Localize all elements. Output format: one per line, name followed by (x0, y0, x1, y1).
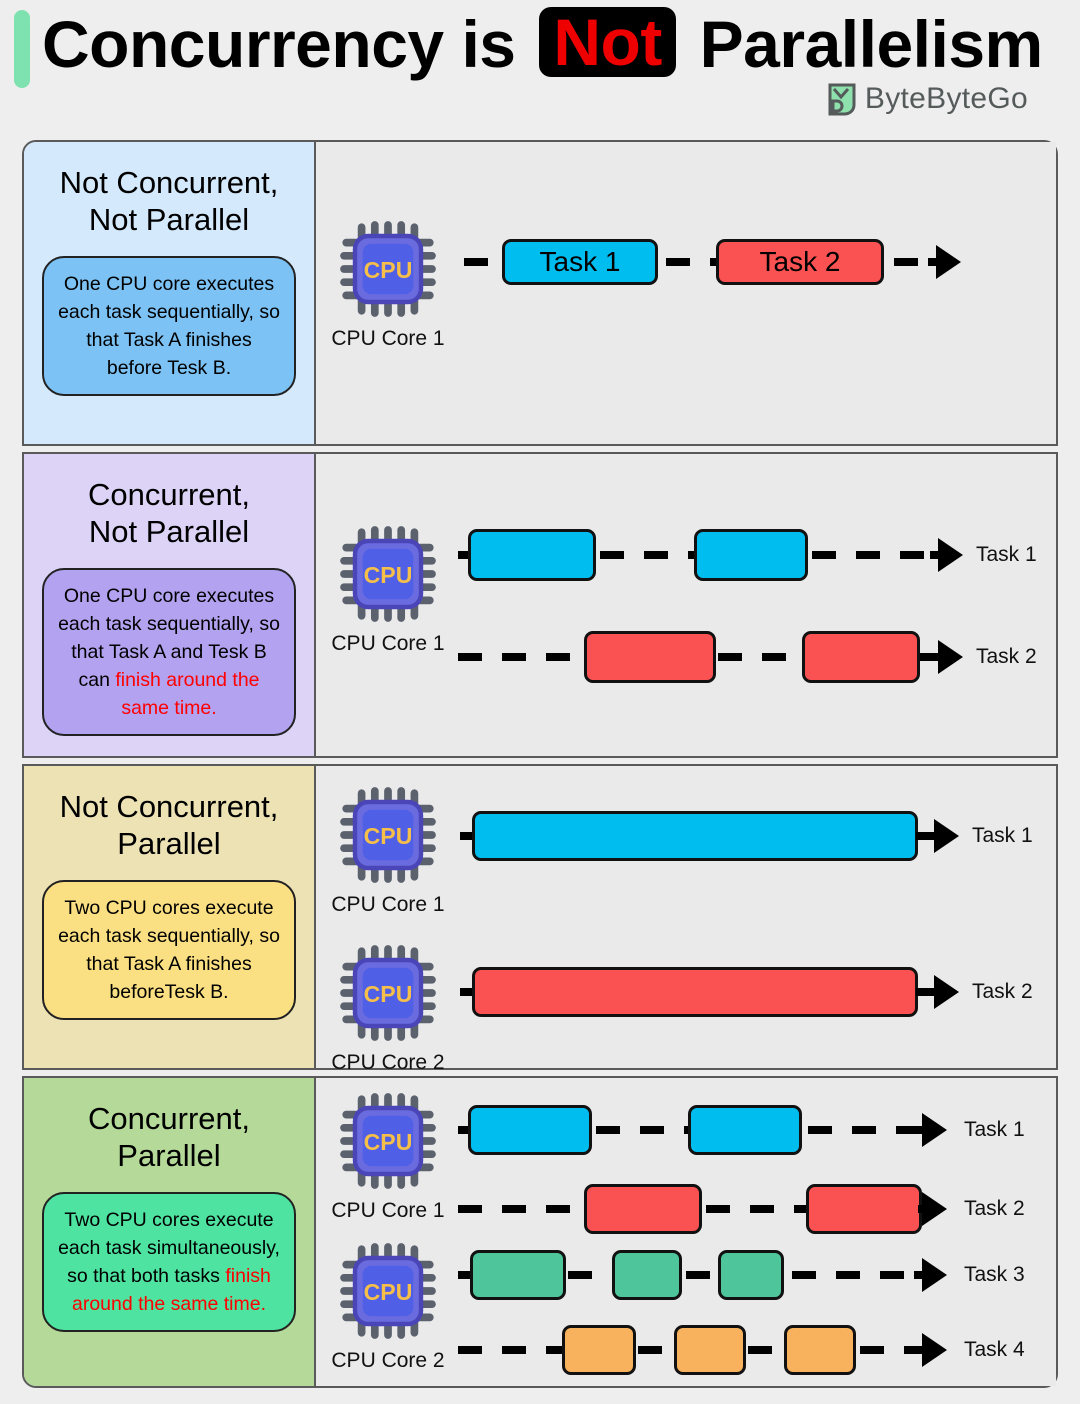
cpu-chip-text: CPU (364, 257, 413, 283)
task-segment (718, 1250, 784, 1300)
cpu-core-label-1: CPU Core 1 (328, 632, 448, 656)
task-segment (674, 1325, 746, 1375)
panel-1: Not Concurrent, Not Parallel One CPU cor… (24, 142, 316, 444)
diagram-3: CPU CPU Core 1 CPU CPU Core 2 (316, 766, 1056, 1068)
cpu-chip-icon: CPU (333, 1236, 443, 1346)
task-label: Task 2 (976, 645, 1037, 669)
title-part-1: Concurrency is (42, 7, 516, 81)
panel-note-text-3: Two CPU cores execute each task sequenti… (58, 897, 280, 1003)
panel-title-4: Concurrent, Parallel (88, 1100, 250, 1174)
panel-note-1: One CPU core executes each task sequenti… (42, 256, 296, 396)
accent-bar (14, 10, 30, 88)
task-segment (612, 1250, 682, 1300)
title-not-badge: Not (539, 7, 675, 77)
timeline-arrow (938, 538, 963, 572)
panel-note-3: Two CPU cores execute each task sequenti… (42, 880, 296, 1020)
timeline-arrow (934, 819, 959, 853)
task-segment (470, 1250, 566, 1300)
task-segment (472, 811, 918, 861)
cpu-core-2-unit: CPU CPU Core 2 (328, 938, 448, 1075)
diagram-4: CPU CPU Core 1 CPU CPU Core 2 (316, 1078, 1056, 1386)
cpu-core-label-2: CPU Core 2 (328, 1051, 448, 1075)
task-segment (694, 529, 808, 581)
task-label: Task 1 (964, 1118, 1025, 1142)
cpu-chip-text: CPU (364, 1279, 413, 1305)
section-concurrent-parallel: Concurrent, Parallel Two CPU cores execu… (22, 1076, 1058, 1388)
task-label: Task 2 (964, 1197, 1025, 1221)
timeline-arrow (922, 1192, 947, 1226)
task-segment (562, 1325, 636, 1375)
panel-title-3: Not Concurrent, Parallel (60, 788, 279, 862)
task-segment (802, 631, 920, 683)
panel-4: Concurrent, Parallel Two CPU cores execu… (24, 1078, 316, 1386)
panel-note-highlight-2: finish around the same time. (115, 669, 259, 719)
panel-3: Not Concurrent, Parallel Two CPU cores e… (24, 766, 316, 1068)
task-segment (584, 1184, 702, 1234)
panel-2: Concurrent, Not Parallel One CPU core ex… (24, 454, 316, 756)
cpu-core-label-2: CPU Core 2 (328, 1349, 448, 1373)
timeline-arrow (922, 1333, 947, 1367)
task-label: Task 2 (972, 980, 1033, 1004)
task-segment (472, 967, 918, 1017)
timeline-arrow (938, 640, 963, 674)
cpu-core-1-unit: CPU CPU Core 1 (328, 1086, 448, 1223)
task-segment (806, 1184, 922, 1234)
diagram-1: CPU CPU Core 1 Task 1 Task 2 (316, 142, 1056, 444)
panel-note-4: Two CPU cores execute each task simultan… (42, 1192, 296, 1332)
cpu-core-1-unit: CPU CPU Core 1 (328, 519, 448, 656)
task-segment (584, 631, 716, 683)
page-title: Concurrency is Not Parallelism (42, 2, 1043, 86)
cpu-core-label-1: CPU Core 1 (328, 1199, 448, 1223)
section-not-concurrent-not-parallel: Not Concurrent, Not Parallel One CPU cor… (22, 140, 1058, 446)
bytebytego-mark-icon (827, 82, 857, 116)
cpu-chip-text: CPU (364, 562, 413, 588)
cpu-chip-icon: CPU (333, 780, 443, 890)
panel-note-2: One CPU core executes each task sequenti… (42, 568, 296, 736)
brand-name: ByteByteGo (865, 82, 1028, 116)
task-block-2: Task 2 (716, 239, 884, 285)
cpu-chip-icon: CPU (333, 519, 443, 629)
task-segment (784, 1325, 856, 1375)
panel-title-2: Concurrent, Not Parallel (88, 476, 250, 550)
brand-logo: ByteByteGo (827, 82, 1028, 116)
task-label: Task 4 (964, 1338, 1025, 1362)
timeline-arrow (934, 975, 959, 1009)
task-label: Task 1 (972, 824, 1033, 848)
cpu-chip-text: CPU (364, 981, 413, 1007)
cpu-core-label-1: CPU Core 1 (328, 893, 448, 917)
panel-note-text-1: One CPU core executes each task sequenti… (58, 273, 280, 379)
section-not-concurrent-parallel: Not Concurrent, Parallel Two CPU cores e… (22, 764, 1058, 1070)
diagram-2: CPU CPU Core 1 Task 1 Task 2 (316, 454, 1056, 756)
task-block-1: Task 1 (502, 239, 658, 285)
panel-title-1: Not Concurrent, Not Parallel (60, 164, 279, 238)
task-segment (468, 1105, 592, 1155)
cpu-core-label-1: CPU Core 1 (328, 327, 448, 351)
cpu-core-2-unit: CPU CPU Core 2 (328, 1236, 448, 1373)
timeline-arrow (922, 1258, 947, 1292)
cpu-core-1-unit: CPU CPU Core 1 (328, 780, 448, 917)
task-segment (688, 1105, 802, 1155)
section-concurrent-not-parallel: Concurrent, Not Parallel One CPU core ex… (22, 452, 1058, 758)
timeline-arrow-1 (936, 245, 961, 279)
task-segment (468, 529, 596, 581)
timeline-arrow (922, 1113, 947, 1147)
cpu-chip-text: CPU (364, 823, 413, 849)
cpu-chip-text: CPU (364, 1129, 413, 1155)
cpu-core-1-unit: CPU CPU Core 1 (328, 214, 448, 351)
cpu-chip-icon: CPU (333, 1086, 443, 1196)
cpu-chip-icon: CPU (333, 938, 443, 1048)
page-header: Concurrency is Not Parallelism ByteByteG… (0, 0, 1080, 132)
task-label: Task 1 (976, 543, 1037, 567)
cpu-chip-icon: CPU (333, 214, 443, 324)
task-label: Task 3 (964, 1263, 1025, 1287)
title-part-2: Parallelism (700, 7, 1043, 81)
